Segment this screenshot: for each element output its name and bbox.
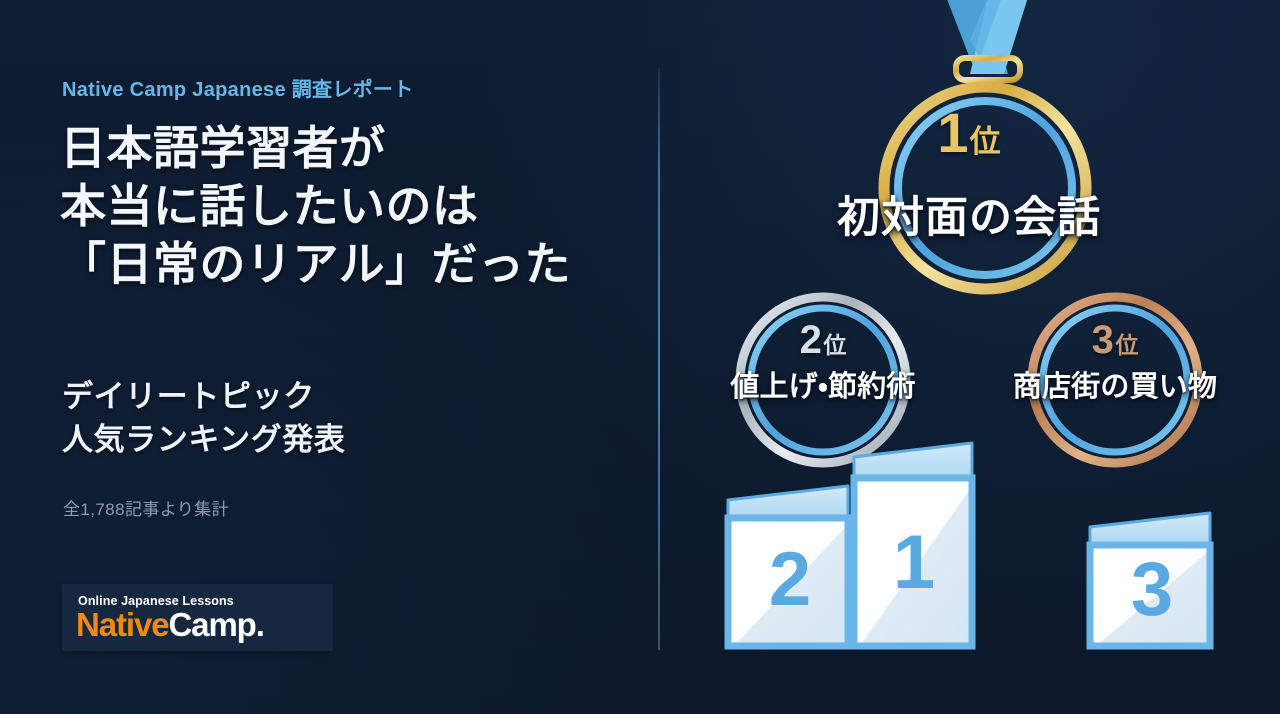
native-camp-logo: Online Japanese Lessons NativeCamp.	[62, 584, 333, 651]
podium-number-2: 2	[769, 537, 811, 622]
rank-1-topic: 初対面の会話	[658, 183, 1280, 245]
subtitle-line-1: デイリートピック	[62, 376, 345, 419]
slide-canvas: Native Camp Japanese 調査レポート 日本語学習者が 本当に話…	[0, 0, 1280, 714]
rank-3-unit: 位	[1115, 332, 1138, 358]
rank-3-number: 3位	[992, 318, 1238, 363]
podium-number-3: 3	[1131, 547, 1173, 632]
rank-3-topic: 商店街の買い物	[969, 363, 1261, 405]
rank-2-number: 2位	[700, 318, 946, 363]
logo-word-native: Native	[76, 606, 168, 643]
rank-2-digit: 2	[800, 318, 822, 362]
sample-size-caption: 全1,788記事より集計	[63, 495, 229, 520]
podium-number-1: 1	[893, 520, 935, 605]
left-content-column: Native Camp Japanese 調査レポート 日本語学習者が 本当に話…	[62, 0, 622, 714]
rank-3-digit: 3	[1092, 318, 1114, 362]
logo-wordmark: NativeCamp.	[76, 608, 264, 641]
rank-1-number: 1位	[658, 100, 1280, 165]
rank-2-unit: 位	[823, 332, 846, 358]
subtitle: デイリートピック 人気ランキング発表	[62, 376, 345, 462]
headline-line-1: 日本語学習者が	[60, 120, 571, 178]
rank-1-unit: 位	[970, 124, 1001, 159]
rank-2-topic: 値上げ・節約術	[677, 363, 969, 405]
page-title: 日本語学習者が 本当に話したいのは 「日常のリアル」だった	[60, 120, 571, 294]
ranking-graphic: 2 1 3 1位 2位 3位 初対面の会話 値上げ・節約術 商店街の買い物	[658, 0, 1280, 714]
rank-1-digit: 1	[937, 101, 967, 164]
logo-word-camp: Camp.	[168, 606, 263, 643]
headline-line-3: 「日常のリアル」だった	[60, 236, 571, 294]
headline-line-2: 本当に話したいのは	[60, 178, 571, 236]
subtitle-line-2: 人気ランキング発表	[62, 419, 345, 462]
report-eyebrow: Native Camp Japanese 調査レポート	[62, 73, 414, 102]
